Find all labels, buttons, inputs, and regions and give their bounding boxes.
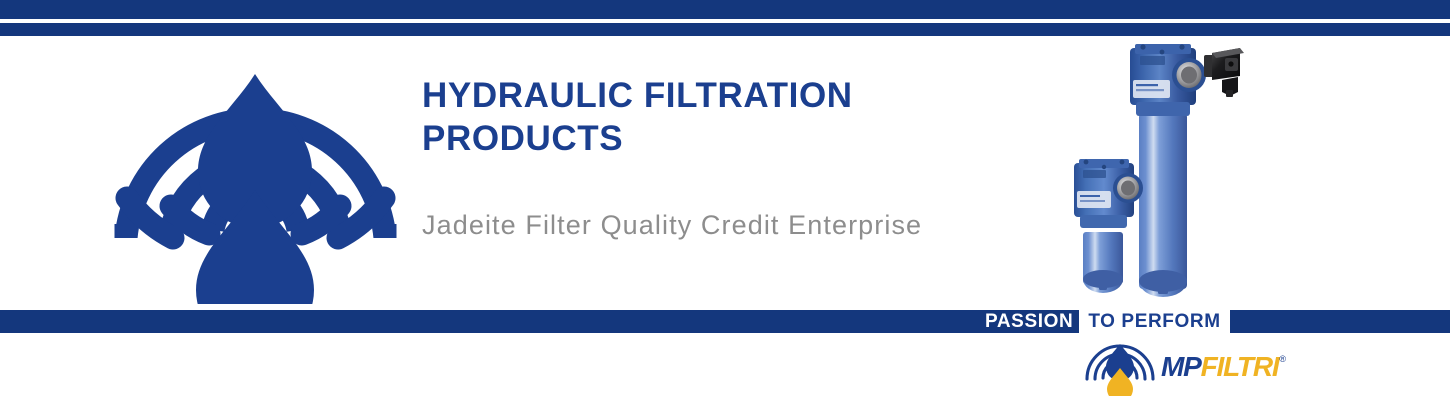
mpfiltri-mp-text: MP — [1161, 353, 1201, 381]
water-droplet-arcs-logo-icon — [113, 38, 398, 304]
bottom-divider — [0, 310, 1450, 333]
hydraulic-filter-product-photo — [1062, 36, 1276, 310]
mpfiltri-filtri-text: FILTRI — [1201, 353, 1279, 381]
mpfiltri-wordmark: MP FILTRI ® — [1161, 353, 1286, 381]
registered-trademark-icon: ® — [1279, 355, 1286, 364]
page-banner: HYDRAULIC FILTRATION PRODUCTS Jadeite Fi… — [0, 0, 1450, 400]
page-title: HYDRAULIC FILTRATION PRODUCTS — [422, 74, 1042, 160]
tagline-to-perform: TO PERFORM — [1079, 310, 1229, 333]
top-thick-divider — [0, 0, 1450, 19]
mpfiltri-droplet-icon — [1083, 338, 1157, 396]
top-thin-divider — [0, 23, 1450, 36]
tagline: PASSION TO PERFORM — [985, 310, 1230, 333]
tagline-passion: PASSION — [985, 310, 1079, 333]
headline-block: HYDRAULIC FILTRATION PRODUCTS — [422, 74, 1042, 160]
mpfiltri-logo: MP FILTRI ® — [1083, 338, 1263, 396]
page-subtitle: Jadeite Filter Quality Credit Enterprise — [422, 210, 922, 241]
